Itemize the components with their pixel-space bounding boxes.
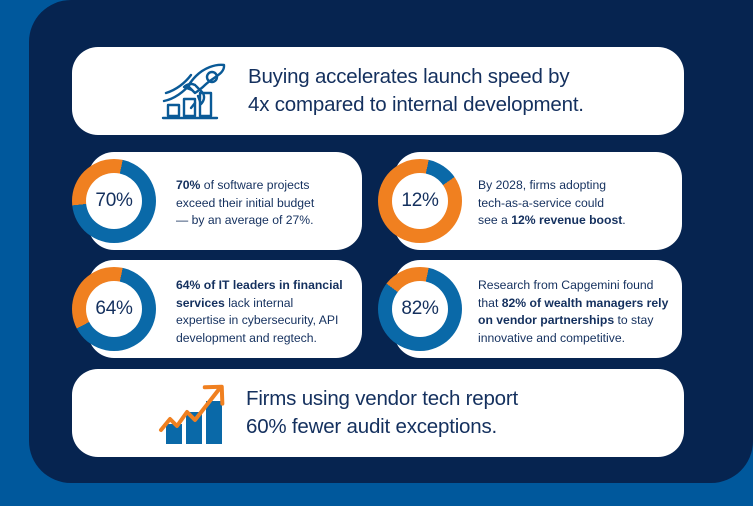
stat-text-line: that 82% of wealth managers rely	[478, 295, 678, 313]
rocket-growth-icon	[158, 61, 230, 121]
stat-text-line: By 2028, firms adopting	[478, 177, 674, 195]
donut-label-64: 64%	[95, 298, 132, 320]
stat-text-line: expertise in cybersecurity, API	[176, 312, 361, 330]
bottom-banner-line-1: Firms using vendor tech report	[246, 385, 518, 413]
donut-chart-70: 70%	[72, 159, 156, 243]
top-banner-text: Buying accelerates launch speed by 4x co…	[248, 63, 584, 119]
growth-bar-chart-icon	[158, 380, 228, 446]
donut-label-82: 82%	[401, 298, 438, 320]
donut-chart-64: 64%	[72, 267, 156, 351]
stat-text-line: see a 12% revenue boost.	[478, 212, 674, 230]
donut-hole-70: 70%	[86, 173, 142, 229]
stat-text-line: tech-as-a-service could	[478, 195, 674, 213]
donut-chart-12: 12%	[378, 159, 462, 243]
stat-text-it-leaders-skills-gap: 64% of IT leaders in financialservices l…	[176, 277, 361, 347]
stat-text-wealth-managers-vendor-partnerships: Research from Capgemini foundthat 82% of…	[478, 277, 678, 347]
bottom-banner-line-2: 60% fewer audit exceptions.	[246, 413, 518, 441]
bottom-banner-text: Firms using vendor tech report 60% fewer…	[246, 385, 518, 441]
donut-hole-12: 12%	[392, 173, 448, 229]
stat-text-line: exceed their initial budget	[176, 195, 356, 213]
stat-text-line: development and regtech.	[176, 330, 361, 348]
top-banner-card: Buying accelerates launch speed by 4x co…	[72, 47, 684, 135]
navy-panel-bleed	[680, 0, 753, 60]
donut-chart-82: 82%	[378, 267, 462, 351]
stat-text-line: on vendor partnerships to stay	[478, 312, 678, 330]
donut-hole-64: 64%	[86, 281, 142, 337]
donut-label-70: 70%	[95, 190, 132, 212]
stat-text-tech-as-a-service-revenue-boost: By 2028, firms adoptingtech-as-a-service…	[478, 177, 674, 230]
infographic-canvas: Buying accelerates launch speed by 4x co…	[0, 0, 753, 506]
stat-text-line: 70% of software projects	[176, 177, 356, 195]
stat-text-line: Research from Capgemini found	[478, 277, 678, 295]
donut-hole-82: 82%	[392, 281, 448, 337]
donut-label-12: 12%	[401, 190, 438, 212]
stat-text-line: — by an average of 27%.	[176, 212, 356, 230]
top-banner-line-2: 4x compared to internal development.	[248, 91, 584, 119]
top-banner-line-1: Buying accelerates launch speed by	[248, 63, 584, 91]
stat-text-line: 64% of IT leaders in financial	[176, 277, 361, 295]
stat-text-line: innovative and competitive.	[478, 330, 678, 348]
stat-text-software-budget-overrun: 70% of software projectsexceed their ini…	[176, 177, 356, 230]
bottom-banner-card: Firms using vendor tech report 60% fewer…	[72, 369, 684, 457]
stat-text-line: services lack internal	[176, 295, 361, 313]
